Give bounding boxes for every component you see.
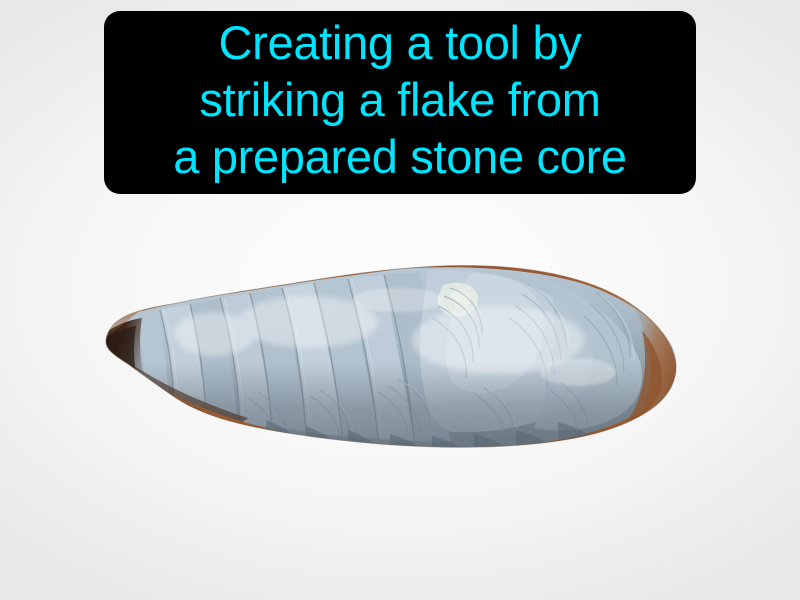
- title-line-2: striking a flake from: [199, 71, 600, 128]
- title-line-1: Creating a tool by: [219, 14, 582, 71]
- stone-tool-image: [98, 222, 708, 462]
- stone-body: [98, 222, 708, 462]
- definition-card: Creating a tool by striking a flake from…: [0, 0, 800, 600]
- title-line-3: a prepared stone core: [173, 128, 627, 185]
- stone-tool-graphic: [98, 222, 708, 462]
- title-banner: Creating a tool by striking a flake from…: [104, 11, 696, 194]
